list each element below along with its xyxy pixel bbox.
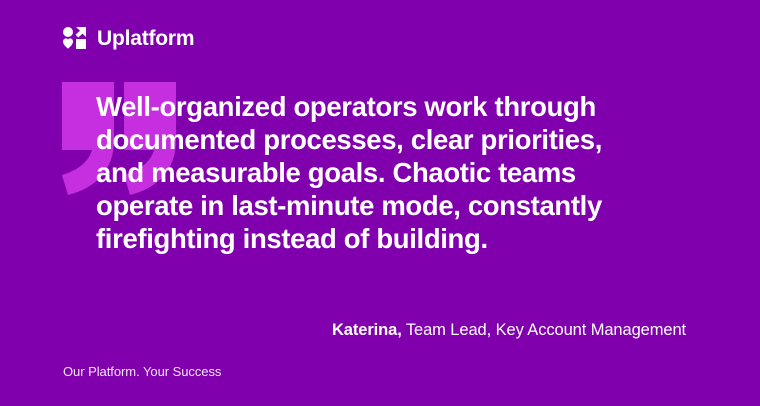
quote-line: firefighting instead of building. — [96, 222, 726, 255]
four-shapes-logo-icon — [63, 27, 86, 49]
quote-line: Well-organized operators work through — [96, 90, 726, 123]
footer-tagline: Our Platform. Your Success — [63, 363, 221, 381]
brand-name: Uplatform — [97, 28, 194, 49]
quote-attribution: Katerina, Team Lead, Key Account Managem… — [332, 320, 686, 341]
attribution-role: Team Lead, Key Account Management — [406, 321, 686, 339]
quote-line: and measurable goals. Chaotic teams — [96, 156, 726, 189]
quote-text: Well-organized operators work through do… — [96, 90, 726, 255]
quote-line: documented processes, clear priorities, — [96, 123, 726, 156]
brand-lockup: Uplatform — [63, 27, 194, 49]
attribution-name: Katerina, — [332, 321, 402, 339]
quote-slide: Uplatform Well-organized operators work … — [0, 0, 760, 406]
quote-line: operate in last-minute mode, constantly — [96, 189, 726, 222]
